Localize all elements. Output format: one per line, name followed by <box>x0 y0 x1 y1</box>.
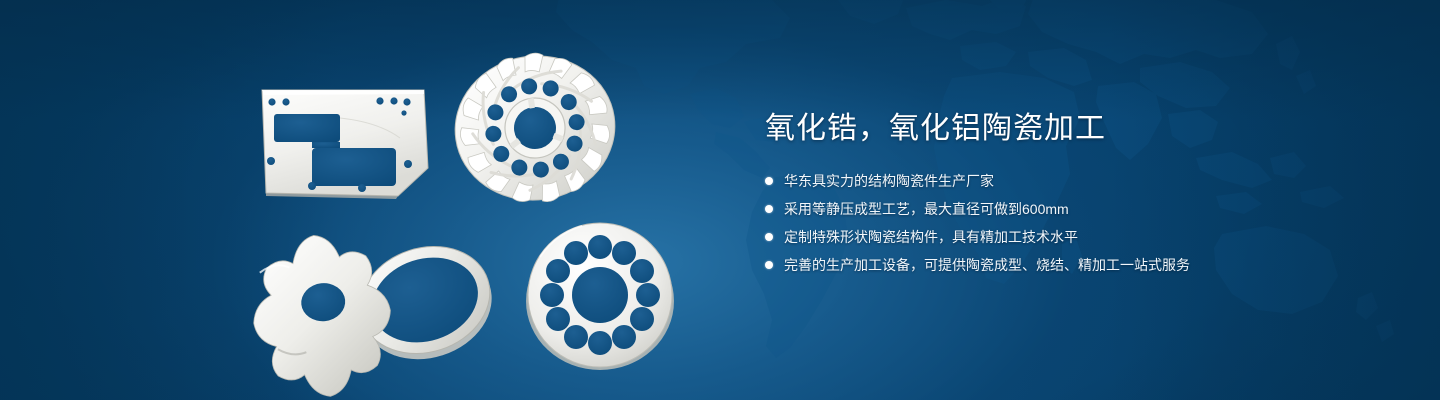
ceramic-cross-plate <box>245 228 398 400</box>
feature-text: 采用等静压成型工艺，最大直径可做到600mm <box>784 201 1069 217</box>
bullet-dot-icon <box>765 261 773 269</box>
feature-text: 完善的生产加工设备，可提供陶瓷成型、烧结、精加工一站式服务 <box>784 257 1190 273</box>
bullet-dot-icon <box>765 205 773 213</box>
list-item: 定制特殊形状陶瓷结构件，具有精加工技术水平 <box>765 226 1325 248</box>
bullet-dot-icon <box>765 177 773 185</box>
ceramic-impeller <box>445 42 625 214</box>
list-item: 华东具实力的结构陶瓷件生产厂家 <box>765 170 1325 192</box>
feature-text: 华东具实力的结构陶瓷件生产厂家 <box>784 173 994 189</box>
banner-copy: 氧化锆，氧化铝陶瓷加工 华东具实力的结构陶瓷件生产厂家 采用等静压成型工艺，最大… <box>765 110 1325 282</box>
product-photo-group <box>0 0 740 400</box>
ceramic-valve-plate <box>526 223 674 370</box>
promo-banner: 氧化锆，氧化铝陶瓷加工 华东具实力的结构陶瓷件生产厂家 采用等静压成型工艺，最大… <box>0 0 1440 400</box>
bullet-dot-icon <box>765 233 773 241</box>
page-title: 氧化锆，氧化铝陶瓷加工 <box>765 110 1325 148</box>
feature-text: 定制特殊形状陶瓷结构件，具有精加工技术水平 <box>784 229 1078 245</box>
feature-list: 华东具实力的结构陶瓷件生产厂家 采用等静压成型工艺，最大直径可做到600mm 定… <box>765 170 1325 276</box>
list-item: 完善的生产加工设备，可提供陶瓷成型、烧结、精加工一站式服务 <box>765 254 1325 276</box>
ceramic-mounting-plate <box>262 90 428 199</box>
list-item: 采用等静压成型工艺，最大直径可做到600mm <box>765 198 1325 220</box>
